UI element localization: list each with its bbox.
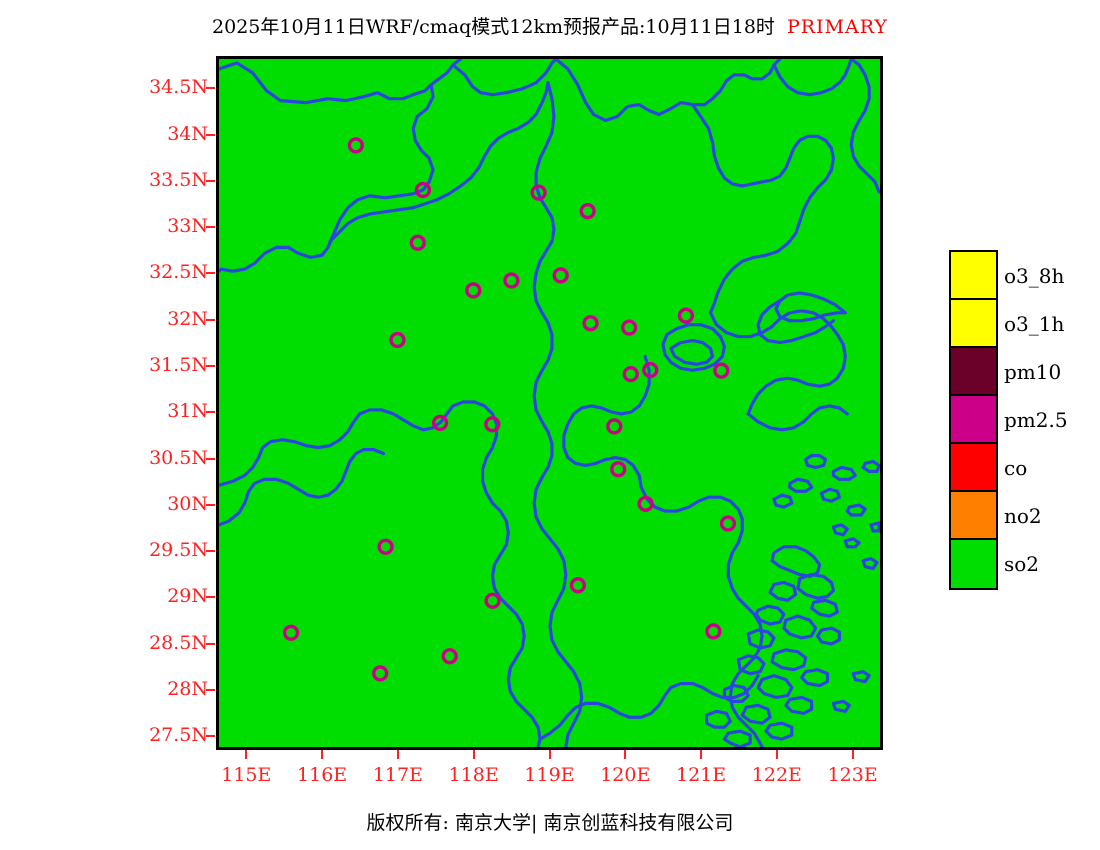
legend-label: o3_8h <box>1004 264 1064 288</box>
pollutant-legend[interactable]: o3_8ho3_1hpm10pm2.5cono2so2 <box>949 250 998 590</box>
legend-swatch-o38h <box>951 252 996 300</box>
x-axis-tick <box>700 750 702 759</box>
legend-item-o38h[interactable]: o3_8h <box>951 252 996 300</box>
legend-swatch-pm25 <box>951 396 996 444</box>
x-axis-tick <box>245 750 247 759</box>
map-plot-area[interactable] <box>216 56 883 750</box>
x-axis-tick <box>776 750 778 759</box>
x-axis-label: 116E <box>282 764 362 786</box>
legend-item-pm10[interactable]: pm10 <box>951 348 996 396</box>
y-axis-label: 31.5N <box>120 354 208 376</box>
legend-label: no2 <box>1004 504 1042 528</box>
x-axis-tick <box>852 750 854 759</box>
x-axis-tick <box>473 750 475 759</box>
y-axis-label: 29N <box>120 585 208 607</box>
y-axis-label: 34N <box>120 123 208 145</box>
x-axis-label: 115E <box>206 764 286 786</box>
y-axis-label: 28N <box>120 678 208 700</box>
x-axis-label: 117E <box>358 764 438 786</box>
legend-item-o31h[interactable]: o3_1h <box>951 300 996 348</box>
legend-label: so2 <box>1004 552 1039 576</box>
chart-title: 2025年10月11日WRF/cmaq模式12km预报产品:10月11日18时P… <box>0 12 1100 39</box>
x-axis-label: 118E <box>434 764 514 786</box>
legend-swatch-o31h <box>951 300 996 348</box>
legend-label: o3_1h <box>1004 312 1064 336</box>
y-axis-label: 32N <box>120 308 208 330</box>
legend-label: pm10 <box>1004 360 1061 384</box>
legend-item-no2[interactable]: no2 <box>951 492 996 540</box>
legend-item-so2[interactable]: so2 <box>951 540 996 588</box>
legend-swatch-so2 <box>951 540 996 588</box>
y-axis-label: 29.5N <box>120 539 208 561</box>
y-axis-label: 33N <box>120 215 208 237</box>
legend-item-co[interactable]: co <box>951 444 996 492</box>
x-axis-label: 119E <box>510 764 590 786</box>
title-main-text: 2025年10月11日WRF/cmaq模式12km预报产品:10月11日18时 <box>212 16 775 38</box>
y-axis-label: 34.5N <box>120 76 208 98</box>
x-axis-tick <box>549 750 551 759</box>
legend-label: pm2.5 <box>1004 408 1068 432</box>
legend-item-pm25[interactable]: pm2.5 <box>951 396 996 444</box>
x-axis-label: 121E <box>661 764 741 786</box>
y-axis-label: 30N <box>120 493 208 515</box>
y-axis-label: 32.5N <box>120 261 208 283</box>
map-background <box>219 59 880 747</box>
x-axis-label: 122E <box>737 764 817 786</box>
legend-swatch-co <box>951 444 996 492</box>
y-axis-label: 31N <box>120 400 208 422</box>
x-axis-label: 123E <box>813 764 893 786</box>
x-axis-tick <box>624 750 626 759</box>
map-canvas <box>219 59 880 747</box>
x-axis-label: 120E <box>585 764 665 786</box>
y-axis-label: 33.5N <box>120 169 208 191</box>
title-primary-label: PRIMARY <box>787 16 888 38</box>
y-axis-label: 27.5N <box>120 724 208 746</box>
copyright-footer: 版权所有: 南京大学| 南京创蓝科技有限公司 <box>0 808 1100 835</box>
legend-swatch-pm10 <box>951 348 996 396</box>
legend-swatch-no2 <box>951 492 996 540</box>
x-axis-tick <box>321 750 323 759</box>
x-axis-tick <box>397 750 399 759</box>
legend-label: co <box>1004 456 1027 480</box>
y-axis-label: 30.5N <box>120 447 208 469</box>
y-axis-label: 28.5N <box>120 632 208 654</box>
